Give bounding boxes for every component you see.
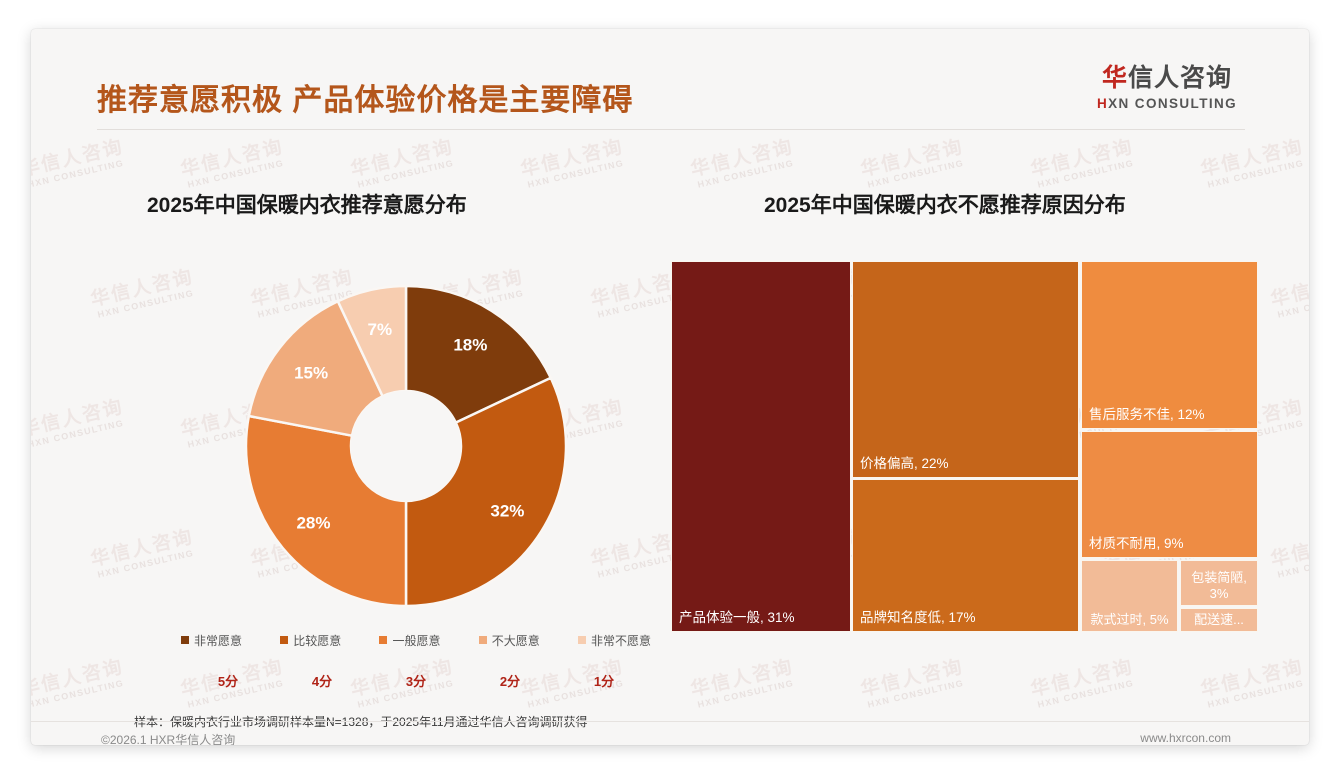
screenshot-root: 华信人咨询HXN CONSULTING华信人咨询HXN CONSULTING华信… <box>0 0 1340 780</box>
watermark-text: 华信人咨询HXN CONSULTING <box>1269 528 1309 581</box>
left-chart-title: 2025年中国保暖内衣推荐意愿分布 <box>147 189 467 219</box>
treemap-cell-label: 品牌知名度低, 17% <box>860 610 1074 626</box>
score-row: 5分4分3分2分1分 <box>181 670 651 690</box>
score-label: 4分 <box>275 671 369 690</box>
logo-accent-char: 华 <box>1102 64 1128 92</box>
footer-copyright: ©2026.1 HXR华信人咨询 <box>101 731 235 745</box>
watermark-text: 华信人咨询HXN CONSULTING <box>1269 268 1309 321</box>
score-label: 5分 <box>181 671 275 690</box>
donut-slice-label: 15% <box>294 363 328 382</box>
donut-hole <box>351 391 461 501</box>
legend-swatch-icon <box>181 636 189 644</box>
slide-footer: ©2026.1 HXR华信人咨询 www.hxrcon.com <box>31 721 1309 745</box>
watermark-text: 华信人咨询HXN CONSULTING <box>689 138 798 191</box>
header-divider <box>97 129 1245 130</box>
watermark-text: 华信人咨询HXN CONSULTING <box>31 138 128 191</box>
legend-label: 非常愿意 <box>194 632 242 649</box>
footer-divider <box>31 721 1309 722</box>
legend-item[interactable]: 非常愿意 <box>181 632 242 649</box>
treemap-cell-label: 包装简陋, 3% <box>1181 570 1257 602</box>
watermark-text: 华信人咨询HXN CONSULTING <box>859 138 968 191</box>
treemap-cell[interactable]: 款式过时, 5% <box>1081 560 1178 632</box>
watermark-text: 华信人咨询HXN CONSULTING <box>31 398 128 451</box>
legend-swatch-icon <box>379 636 387 644</box>
treemap-cell-label: 价格偏高, 22% <box>860 456 1074 472</box>
legend-swatch-icon <box>280 636 288 644</box>
slide-header: 推荐意愿积极 产品体验价格是主要障碍 华信人咨询 HXN CONSULTING <box>31 29 1309 127</box>
donut-slice-label: 32% <box>490 501 524 520</box>
treemap-cell[interactable]: 产品体验一般, 31% <box>671 261 851 632</box>
recommendation-donut-chart: 18%32%28%15%7% <box>236 276 576 616</box>
right-chart-title: 2025年中国保暖内衣不愿推荐原因分布 <box>764 189 1126 219</box>
legend-swatch-icon <box>578 636 586 644</box>
watermark-text: 华信人咨询HXN CONSULTING <box>31 658 128 711</box>
watermark-text: 华信人咨询HXN CONSULTING <box>179 138 288 191</box>
donut-slice-label: 28% <box>296 514 330 533</box>
watermark-text: 华信人咨询HXN CONSULTING <box>1199 658 1308 711</box>
legend-label: 一般愿意 <box>392 632 440 649</box>
logo-chinese-rest: 信人咨询 <box>1128 64 1232 92</box>
treemap-cell[interactable]: 品牌知名度低, 17% <box>852 479 1079 632</box>
watermark-text: 华信人咨询HXN CONSULTING <box>1199 138 1308 191</box>
legend-label: 非常不愿意 <box>591 632 651 649</box>
treemap-cell[interactable]: 包装简陋, 3% <box>1180 560 1258 606</box>
donut-slice-label: 18% <box>453 336 487 355</box>
treemap-cell[interactable]: 价格偏高, 22% <box>852 261 1079 478</box>
treemap-cell-label: 产品体验一般, 31% <box>679 610 846 626</box>
legend-item[interactable]: 比较愿意 <box>280 632 341 649</box>
company-logo: 华信人咨询 HXN CONSULTING <box>1089 66 1245 111</box>
score-label: 3分 <box>369 671 463 690</box>
donut-svg: 18%32%28%15%7% <box>236 276 576 616</box>
watermark-text: 华信人咨询HXN CONSULTING <box>1029 658 1138 711</box>
legend-label: 不大愿意 <box>492 632 540 649</box>
logo-english-accent: H <box>1097 96 1108 111</box>
score-label: 1分 <box>557 671 651 690</box>
watermark-text: 华信人咨询HXN CONSULTING <box>89 268 198 321</box>
treemap-cell[interactable]: 配送速... <box>1180 608 1258 632</box>
footer-website[interactable]: www.hxrcon.com <box>1140 731 1231 745</box>
treemap-cell-label: 材质不耐用, 9% <box>1089 536 1253 552</box>
logo-chinese-text: 华信人咨询 <box>1089 66 1245 91</box>
page-title: 推荐意愿积极 产品体验价格是主要障碍 <box>97 75 633 119</box>
legend-item[interactable]: 不大愿意 <box>479 632 540 649</box>
legend-item[interactable]: 一般愿意 <box>379 632 440 649</box>
watermark-text: 华信人咨询HXN CONSULTING <box>689 658 798 711</box>
treemap-cell[interactable]: 售后服务不佳, 12% <box>1081 261 1258 429</box>
watermark-text: 华信人咨询HXN CONSULTING <box>349 138 458 191</box>
legend-item[interactable]: 非常不愿意 <box>578 632 651 649</box>
treemap-cell-label: 款式过时, 5% <box>1082 612 1177 628</box>
legend-label: 比较愿意 <box>293 632 341 649</box>
reasons-treemap-chart: 产品体验一般, 31%价格偏高, 22%品牌知名度低, 17%售后服务不佳, 1… <box>670 260 1259 633</box>
treemap-cell-label: 配送速... <box>1181 612 1257 628</box>
watermark-text: 华信人咨询HXN CONSULTING <box>89 528 198 581</box>
legend-swatch-icon <box>479 636 487 644</box>
donut-legend: 非常愿意比较愿意一般愿意不大愿意非常不愿意 <box>181 631 651 649</box>
watermark-text: 华信人咨询HXN CONSULTING <box>519 138 628 191</box>
donut-slice-label: 7% <box>368 320 393 339</box>
treemap-cell-label: 售后服务不佳, 12% <box>1089 407 1253 423</box>
logo-english-text: HXN CONSULTING <box>1089 97 1245 111</box>
score-label: 2分 <box>463 671 557 690</box>
slide-card: 华信人咨询HXN CONSULTING华信人咨询HXN CONSULTING华信… <box>31 29 1309 745</box>
watermark-text: 华信人咨询HXN CONSULTING <box>859 658 968 711</box>
treemap-cell[interactable]: 材质不耐用, 9% <box>1081 431 1258 558</box>
logo-english-rest: XN CONSULTING <box>1108 96 1237 111</box>
watermark-text: 华信人咨询HXN CONSULTING <box>1029 138 1138 191</box>
